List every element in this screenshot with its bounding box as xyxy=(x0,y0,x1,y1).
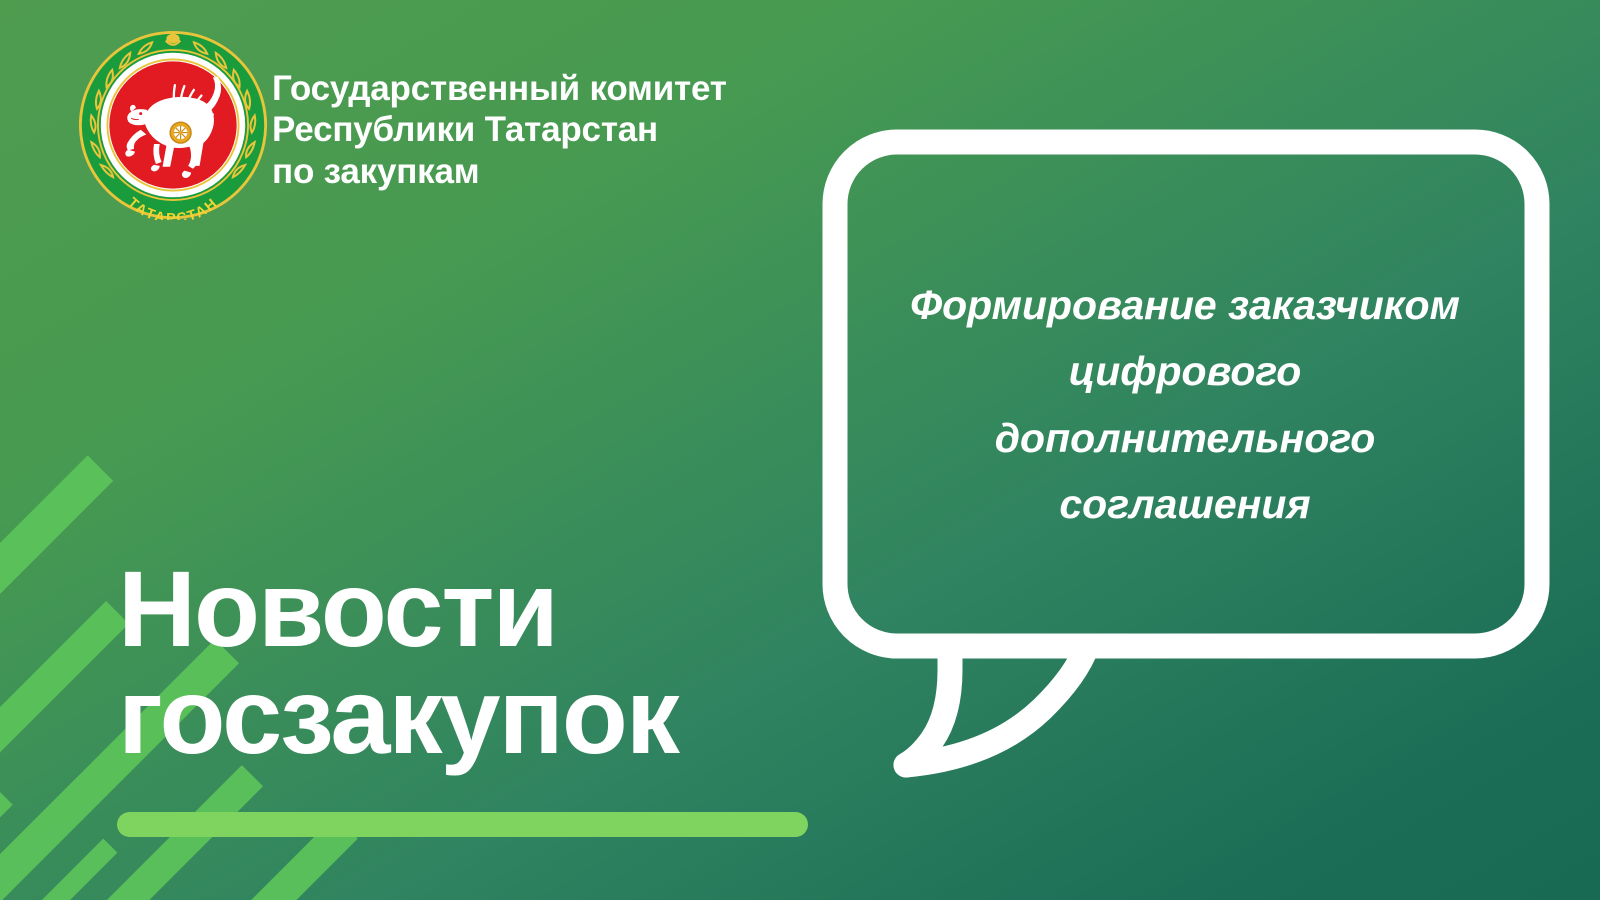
organisation-name: Государственный комитет Республики Татар… xyxy=(272,68,892,192)
tatarstan-coat-of-arms-icon: ТАТАРСТАН xyxy=(78,30,268,220)
poster-canvas: ТАТАРСТАН xyxy=(0,0,1600,900)
accent-underline-bar xyxy=(117,812,808,837)
page-title: Новости госзакупок xyxy=(118,556,898,770)
speech-bubble-text: Формирование заказчиком цифрового дополн… xyxy=(895,272,1475,538)
